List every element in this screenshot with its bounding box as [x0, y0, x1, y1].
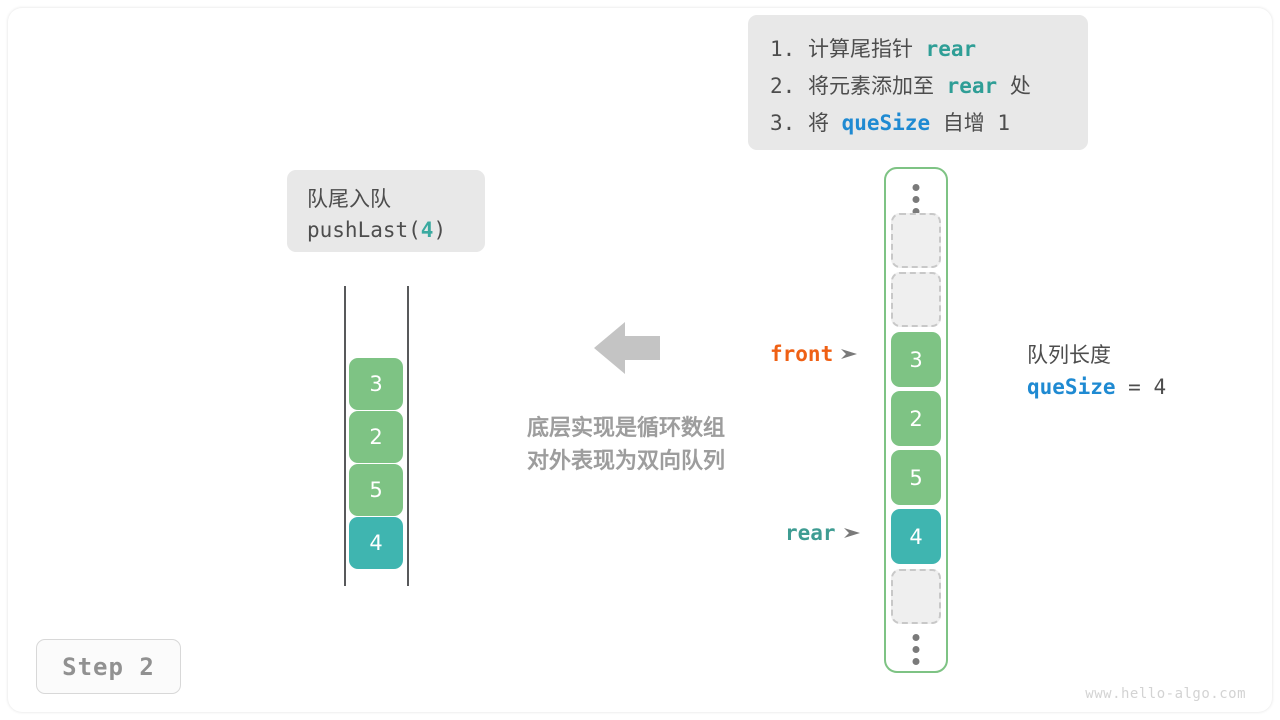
stack-cell-3: 4: [349, 517, 403, 569]
operation-call: pushLast(4): [307, 214, 485, 246]
array-slot-5: 4: [891, 509, 941, 564]
rear-pointer: rear: [785, 521, 860, 545]
stack-cell-1: 2: [349, 411, 403, 463]
step-line-3: 3. 将 queSize 自增 1: [770, 105, 1066, 142]
caption-line-2: 对外表现为双向队列: [498, 445, 754, 478]
step-badge: Step 2: [36, 639, 181, 694]
rear-pointer-label: rear: [785, 521, 836, 545]
rear-arrow-icon: [844, 526, 860, 540]
step-3-text-after: 自增 1: [930, 111, 1010, 135]
step-line-2: 2. 将元素添加至 rear 处: [770, 68, 1066, 105]
array-slot-4: 5: [891, 450, 941, 505]
step-1-index: 1.: [770, 37, 795, 61]
step-3-index: 3.: [770, 111, 795, 135]
deque-stack: 3 2 5 4: [344, 286, 410, 586]
operation-box: 队尾入队 pushLast(4): [287, 170, 485, 252]
queue-size-value: 4: [1153, 375, 1166, 399]
queue-length-title: 队列长度: [1027, 340, 1166, 370]
array-slot-3: 2: [891, 391, 941, 446]
operation-call-prefix: pushLast(: [307, 218, 421, 242]
stack-rail-right: [407, 286, 409, 586]
step-3-code: queSize: [842, 111, 931, 135]
operation-call-suffix: ): [433, 218, 446, 242]
stack-cell-2: 5: [349, 464, 403, 516]
stack-rail-left: [344, 286, 346, 586]
front-arrow-icon: [841, 347, 857, 361]
watermark: www.hello-algo.com: [1085, 686, 1246, 702]
operation-call-arg: 4: [421, 218, 434, 242]
diagram-canvas: 1. 计算尾指针 rear 2. 将元素添加至 rear 处 3. 将 queS…: [0, 0, 1280, 720]
queue-size-var: queSize: [1027, 375, 1116, 399]
array-slot-0: [891, 213, 941, 268]
ellipsis-top-icon: [913, 184, 920, 215]
front-pointer: front: [770, 342, 857, 366]
array-slot-1: [891, 272, 941, 327]
ellipsis-bottom-icon: [913, 634, 920, 665]
queue-length-expression: queSize = 4: [1027, 370, 1166, 404]
step-2-index: 2.: [770, 74, 795, 98]
stack-cell-0: 3: [349, 358, 403, 410]
step-line-1: 1. 计算尾指针 rear: [770, 31, 1066, 68]
steps-description-box: 1. 计算尾指针 rear 2. 将元素添加至 rear 处 3. 将 queS…: [748, 15, 1088, 150]
operation-title: 队尾入队: [307, 184, 485, 214]
queue-length-note: 队列长度 queSize = 4: [1027, 340, 1166, 404]
array-slot-2: 3: [891, 332, 941, 387]
step-1-code: rear: [926, 37, 977, 61]
step-2-code: rear: [947, 74, 998, 98]
step-3-text-before: 将: [795, 111, 841, 135]
caption-text: 底层实现是循环数组 对外表现为双向队列: [498, 412, 754, 478]
front-pointer-label: front: [770, 342, 833, 366]
left-arrow-icon: [594, 322, 660, 374]
step-2-text-after: 处: [997, 74, 1031, 98]
caption-line-1: 底层实现是循环数组: [498, 412, 754, 445]
queue-size-equals: =: [1116, 375, 1154, 399]
step-1-text-before: 计算尾指针: [795, 37, 925, 61]
step-2-text-before: 将元素添加至: [795, 74, 946, 98]
array-slot-6: [891, 569, 941, 624]
circular-array-frame: 3 2 5 4: [884, 167, 948, 673]
